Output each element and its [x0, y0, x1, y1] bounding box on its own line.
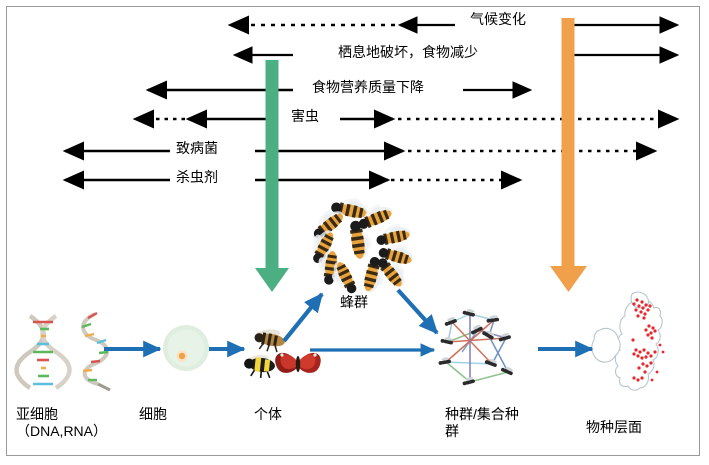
diagram-canvas	[0, 0, 709, 465]
stage-label-cell-line1: 细胞	[139, 406, 167, 423]
swarm-label: 蜂群	[340, 292, 368, 312]
species-map-icon	[592, 292, 664, 390]
stage-label-population: 种群/集合种 群	[445, 406, 545, 439]
stage-label-species-line1: 物种层面	[586, 419, 642, 436]
cell-icon	[163, 325, 209, 371]
individual-insects-icon	[243, 324, 321, 380]
stage-label-species: 物种层面	[586, 419, 642, 436]
stressor-label-pesticides: 杀虫剂	[176, 170, 218, 184]
stage-label-population-line1: 种群/集合种	[445, 406, 545, 423]
stage-label-subcellular: 亚细胞 （DNA,RNA）	[16, 406, 134, 439]
population-network-icon	[438, 308, 515, 386]
arrow-swarm-to-population	[398, 290, 437, 333]
stressor-label-pathogens: 致病菌	[176, 141, 218, 155]
stage-label-individual: 个体	[254, 406, 282, 423]
stage-label-cell: 细胞	[139, 406, 167, 423]
green-downward-arrow	[255, 60, 289, 292]
stage-label-subcellular-line1: 亚细胞	[16, 406, 134, 423]
orange-downward-arrow	[550, 18, 587, 292]
arrow-individual-to-swarm	[284, 294, 322, 341]
bee-swarm-icon	[302, 191, 418, 300]
stage-label-population-line2: 群	[445, 423, 545, 440]
stressor-label-pests: 害虫	[291, 109, 319, 123]
figure-root: 气候变化 栖息地破坏，食物减少 食物营养质量下降 害虫 致病菌 杀虫剂 蜂群 亚…	[0, 0, 709, 465]
stressor-label-habitat-loss: 栖息地破坏，食物减少	[338, 45, 478, 59]
stage-label-individual-line1: 个体	[254, 406, 282, 423]
stage-label-subcellular-line2: （DNA,RNA）	[16, 423, 134, 440]
dna-rna-icon	[17, 313, 111, 390]
stressor-label-food-nutrition: 食物营养质量下降	[312, 80, 424, 94]
stressor-label-climate-change: 气候变化	[470, 12, 526, 26]
